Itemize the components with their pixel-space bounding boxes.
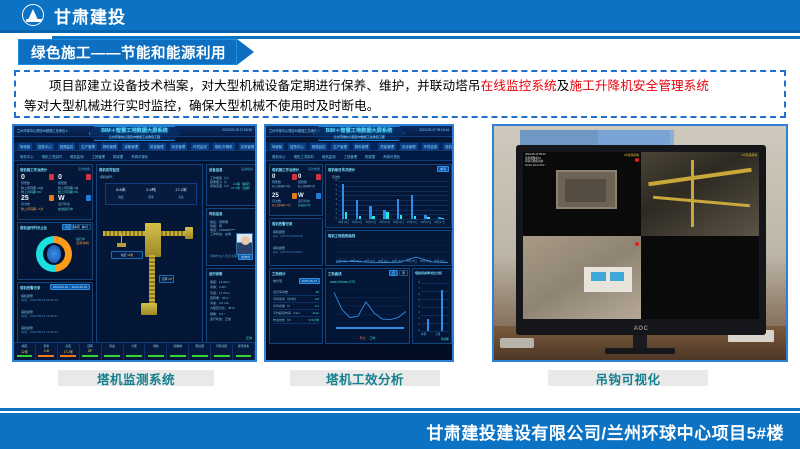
x-tick-label: 05月11日 [352,220,363,224]
dash1-stat-3-value: W [58,195,73,202]
dash1-nav-primary: 驾驶舱 智慧中心 视频监控 生产管理 物料管理 设备管理 质量管理 安全管理 环… [14,142,255,151]
dash1-donut-legend-1: 空闲/停机 [76,241,89,245]
status-cell-6-label: 倾角 [153,344,159,348]
dash1-device-label: 塔机编号： [100,175,115,179]
table-cell-value: 6.5小时 [309,318,319,322]
dash1-log-item-1-desc: 时间：2023-05-15 14:08:37 [21,314,58,318]
x-tick-label: 05月12日 [366,220,377,224]
dash2-flag-icon-4 [316,193,321,199]
dash1-log-card: 塔机告警记录 2023-05-01 ~ 2023-05-16 塔机报警 时间：2… [17,282,93,344]
dash2-nav-1[interactable]: 智慧中心 [288,143,306,150]
status-cell-2: 高度17.2米 [58,343,80,360]
dash1-nav-r0[interactable]: 质量管理 [148,143,166,150]
cam1-inner-pit [565,179,605,202]
dash1-crane-title: 塔机实时监控 [99,167,119,172]
bar-1-0 [345,212,348,219]
cam3-blue-tarp-2 [610,272,624,280]
section-title-banner: 绿色施工——节能和能源利用 [18,39,254,65]
dash2-nav-0[interactable]: 驾驶舱 [270,143,284,150]
dash1-log-item-0-desc: 时间：2023-05-16 09:22:10 [21,298,58,302]
section-title-text: 绿色施工——节能和能源利用 [18,39,237,65]
crane-cab [145,223,161,257]
dash2-util-title: 塔机利用率对比分析 [415,271,442,275]
dash2-stat-0: 0 预警数 较上周同期 +0台 [272,174,291,188]
status-cell-9-label: 司机识别 [216,344,227,348]
dash2-log-card: 塔机告警记录 塔机报警 时间：2023-05-16 09:22:10 塔机报警 … [269,218,323,266]
table-cell-value: 4min [312,311,319,315]
dash1-devinfo-values: 2.4吨（额定） 17.2米（当前） [231,182,252,190]
dash2-eff-title: 工效曲线 [328,271,342,276]
y-tick-label: 4 [336,198,337,201]
dash2-nav-4[interactable]: 物料管理 [353,143,371,150]
dash1-log-item-0[interactable]: 塔机报警 时间：2023-05-16 09:22:10 [21,294,58,302]
table-cell-key: 作业时长（h） [273,318,293,322]
dash2-stats-title: 塔机施工作业统计 [272,167,299,172]
x-tick-label: 05月11日 [350,259,361,263]
dash2-stat-0-sub: 较上周同期 +0台 [272,184,291,188]
table-cell-value: 25 [316,290,319,294]
dash1-stat-1-value: 0 [58,174,79,181]
desk-object-left [500,338,534,348]
dash2-nav-3[interactable]: 生产管理 [331,143,349,150]
y-tick-label: 7 [336,184,337,187]
dash2-subnav-1[interactable]: 塔机工况实时 [292,153,316,160]
bar-1-7 [441,218,444,219]
dash1-stat-2-sub: 较上周同期 +7次 [21,207,43,211]
panel-strip: 兰州环球中心项目5#楼施工总承包 ▾ 2023-05-16 17:25:36 B… [0,124,800,368]
y-tick-label: 3 [419,311,420,314]
cam3-record-icon [635,242,639,246]
footer-text: 甘肃建投建设有限公司/兰州环球中心项目5#楼 [426,419,784,444]
dash2-stats-card: 塔机施工作业统计 实时数据 0 预警数 较上周同期 +0台 0 报警数 较上周同… [269,164,323,216]
dash1-project-selector[interactable]: 兰州环球中心项目5#楼施工总承包 ▾ [17,128,68,133]
wall-banner-2 [598,130,674,146]
y-tick-label: 4 [419,305,420,308]
screenshot-hook-visualization: 2023-05-16 09:24塔吊摄像机01吊钩可视化系统10.5m 34.2… [492,124,788,362]
dash2-log-item-1[interactable]: 塔机报警 时间：2023-05-15 14:08:37 [273,246,302,254]
status-cell-10: 通讯状态 [233,343,255,360]
dash1-params-status: 正常 [246,336,252,340]
cam2-beam-3 [691,160,694,227]
status-cell-0-value: 12米 [21,349,28,354]
dash1-donut-core [47,245,61,263]
dash1-metric-2-label: 高度 [166,195,196,199]
stat-flag-icon-4 [86,195,91,201]
status-cell-3: 回转25° [80,343,102,360]
dash2-nav-r2[interactable]: 环境监测 [422,143,440,150]
dash2-bar-pill[interactable]: 本月 [437,166,449,172]
status-cell-0-label: 幅度 [22,344,28,348]
dash1-nav-r1[interactable]: 安全管理 [170,143,188,150]
dash2-efficiency-card: 工效曲线 日 周 max=0/max=270 吊次 工时 [325,268,410,344]
dash1-driver-status-badge: 在岗中 [238,254,253,260]
chevron-right-icon [237,39,254,65]
dash2-subnav-5[interactable]: 吊钩可视化 [381,153,402,160]
dash1-stat-1-sub2: 较上月同期 0% [58,190,79,194]
dash1-nav-4[interactable]: 物料管理 [101,143,119,150]
y-tick-label: 8 [419,281,420,284]
table-cell-value: 3.6 [315,297,319,301]
crane-tag-3-value: 25° [168,277,172,281]
y-tick-label: 8 [336,179,337,182]
description-line-1: 项目部建立设备技术档案，对大型机械设备定期进行保养、维护，并联动塔吊在线监控系统… [24,77,776,97]
dash2-util-plot [421,283,449,331]
dash2-trend-title: 塔机工效趋势曲线 [328,233,355,238]
dash1-stats-card: 塔机施工作业统计 实时数据 0 预警数 较上周同期 +0台 较上月同期 0% 0 [17,164,93,220]
y-tick-label: 0 [419,329,420,332]
crane-counterweight [185,227,193,239]
y-tick-label: 2 [336,208,337,211]
dash1-params-title: 运行参数 [209,271,223,276]
caption-panel-3: 吊钩可视化 [548,370,708,386]
avatar [236,233,253,255]
table-row: 平均起吊时间（min）4min [273,310,319,317]
table-cell-key: 平均吊次（次/时） [273,297,298,301]
status-cell-8: 限位器 [189,343,211,360]
dash1-stat-1: 0 报警数 较上周同期 0台 较上月同期 0% [58,174,79,194]
dash1-stat-0-value: 0 [21,174,43,181]
bar-1-6 [427,217,430,219]
footer-bar: 甘肃建投建设有限公司/兰州环球中心项目5#楼 [0,413,800,449]
x-tick-label: 05月16日 [420,259,431,263]
dash1-stats-right[interactable]: 实时数据 [78,167,90,171]
dash2-bar-chart-card: 塔机每日吊次统计 本月 吊次数 012345678 05月10日05月11日05… [325,164,452,228]
x-tick-label: 05月15日 [407,220,418,224]
dash1-stat-0-label: 预警数 [21,181,43,185]
status-cell-7-label: 防碰撞 [174,344,182,348]
dash2-utilization-card: 塔机利用率对比分析 012345678 本期上期 利用率 [412,268,452,344]
dash1-stat-3: W 运行状态 在线运行中 [58,195,73,211]
dash1-stats-title: 塔机施工作业统计 [20,167,47,172]
table-cell-value: 2.1 [315,304,319,308]
x-tick-label: 05月14日 [393,220,404,224]
dash2-title: BIM＋智慧工地数据大屏系统 兰州环球中心项目5#楼施工总承包工程 [326,127,393,139]
crane-tag-0-label: 幅度 [121,253,127,257]
dash1-devinfo-title: 设备信息 [209,167,223,172]
dash1-nav-3[interactable]: 生产管理 [79,143,97,150]
status-cell-4: 风速 [102,343,124,360]
dash1-nav-secondary: 塔机中心 塔机工况实时 塔机监测 工效管理 防碰撞 吊钩可视化 [14,152,255,161]
description-box: 项目部建立设备技术档案，对大型机械设备定期进行保养、维护，并联动塔吊在线监控系统… [14,70,786,118]
desc-highlight-2: 施工升降机安全管理系统 [569,79,709,93]
y-tick-label: 3 [336,203,337,206]
dash1-title-text: BIM＋智慧工地数据大屏系统 [101,128,168,134]
table-row: 当日吊次数25 [273,289,319,296]
dash2-eff-scrollbar[interactable] [336,327,404,329]
dash1-stat-3-sub: 在线运行中 [58,207,73,211]
cam1-label: 1号塔吊吊钩 [623,153,639,157]
dash2-util-yticks: 012345678 [413,283,421,331]
cam2-label: 2号塔吊吊钩 [741,153,757,157]
camera-feed-3 [523,236,641,320]
dash1-log-title: 塔机告警记录 [20,285,40,290]
camera-feed-4-empty [641,236,759,320]
dash1-devinfo-row-2: 吊钩高度（m） [210,184,231,188]
status-cell-6: 倾角 [145,343,167,360]
dash2-nav-2[interactable]: 视频监控 [310,143,328,150]
dash1-log-item-1[interactable]: 塔机报警 时间：2023-05-15 14:08:37 [21,310,58,318]
x-tick-label: 本期 [421,332,426,336]
dash2-table-rows: 当日吊次数25平均吊次（次/时）3.6平均吊重（t）2.1平均起吊时间（min）… [273,289,319,324]
slide-root: 甘肃建投 绿色施工——节能和能源利用 项目部建立设备技术档案，对大型机械设备定期… [0,0,800,449]
dash2-flag-icon-2 [316,174,321,180]
dash1-log-item-2-desc: 时间：2023-05-14 10:51:03 [21,330,58,334]
dash2-subnav-2[interactable]: 塔机监测 [320,153,338,160]
table-cell-key: 平均起吊时间（min） [273,311,302,315]
dash1-param-5: 力矩百分比：48 % [210,306,235,311]
dash1-param-7: 运行状态：正常 [210,317,235,322]
dash2-eff-footer-legend: 吊次 工时 [359,336,375,340]
dash2-nav-secondary: 塔机中心 塔机工况实时 塔机监测 工效管理 防碰撞 吊钩可视化 [266,152,452,161]
dash2-log-item-1-desc: 时间：2023-05-15 14:08:37 [273,250,302,254]
bar-0-1 [441,290,444,331]
table-cell-key: 平均吊重（t） [273,304,292,308]
dash2-stat-2-sub: 较上周同期 +7次 [272,203,291,207]
cam2-beam-2 [653,196,750,207]
y-tick-label: 5 [419,299,420,302]
dash1-nav-5[interactable]: 设备管理 [122,143,140,150]
dash2-project-selector[interactable]: 兰州环球中心项目5#楼施工总承包 ▾ [269,128,320,133]
dash1-nav-1[interactable]: 智慧中心 [36,143,54,150]
dash1-stat-1-label: 报警数 [58,181,79,185]
dash1-metric-2-value: 17.2米 [166,187,196,193]
dash2-util-legend: 利用率 [441,337,449,341]
dash1-subnav-5[interactable]: 吊钩可视化 [129,153,150,160]
bar-1-4 [400,215,403,219]
dash2-subnav-0[interactable]: 塔机中心 [270,153,288,160]
dash2-flag-icon-1 [292,174,297,180]
brand-name: 甘肃建投 [54,3,126,28]
crane-hook [117,243,126,247]
dash2-clock: 2023-05-17 09:10:44 [419,128,449,132]
dash2-stat-1: 0 报警数 较上周同期 0台 [298,174,315,188]
dash1-donut-legend: 运行中 空闲/停机 [76,237,89,245]
dash1-subnav-1[interactable]: 塔机工况实时 [40,153,64,160]
table-cell-key: 当日吊次数 [273,290,288,294]
camera-feed-2: 2号塔吊吊钩 [641,152,759,236]
dash1-metric-0-label: 幅度 [106,195,136,199]
caption-panel-2: 塔机工效分析 [290,370,440,386]
status-cell-2-label: 高度 [65,344,71,348]
x-tick-label: 05月17日 [434,220,445,224]
bar-1-2 [372,216,375,219]
dash2-subtitle: 兰州环球中心项目5#楼施工总承包工程 [326,135,393,139]
dash1-crane-3d-model: 幅度 12米 回转 25° [97,209,204,329]
dash1-stat-2: 25 吊次数 较上周同期 +7次 [21,195,43,211]
dash1-log-item-2[interactable]: 塔机报警 时间：2023-05-14 10:51:03 [21,326,58,334]
x-tick-label: 05月17日 [434,259,445,263]
status-cell-3-value: 25° [88,349,93,353]
dash2-bar-chart-plot [338,181,448,219]
aoc-brand-logo: AOC [634,326,649,332]
dash2-bar-yticks: 012345678 [326,181,338,219]
dash1-nav-2[interactable]: 视频监控 [58,143,76,150]
dash2-eff-pill-1[interactable]: 周 [399,270,408,276]
dash1-driver-rows: 姓名：张师傅 性别：男 电话：1390000**** 工作状态：在岗 [210,220,235,236]
crane-tag-3-label: 回转 [162,277,168,281]
dash2-table-card: 工效统计 2023-05-17 统计项 当日吊次数25平均吊次（次/时）3.6平… [269,268,323,344]
dash1-nav-r2[interactable]: 环境监测 [191,143,209,150]
y-tick-label: 6 [419,293,420,296]
dash2-stats-right[interactable]: 实时数据 [308,167,320,171]
dash2-eff-legend-1: 工时 [370,336,376,340]
dash2-table-date[interactable]: 2023-05-17 [299,278,320,284]
dash1-devinfo-val-2: 17.2米（当前） [231,186,252,190]
dash1-devinfo-link[interactable]: 设备档案 [241,167,253,171]
dash1-devinfo-rows: 工作幅度（m） 起重能力（t） 吊钩高度（m） [210,176,231,188]
cam1-record-icon [635,158,639,162]
y-tick-label: 7 [419,287,420,290]
stat-flag-icon-2 [86,174,91,180]
x-tick-label: 05月10日 [336,259,347,263]
dash1-donut-pill-2[interactable]: 本月 [79,224,91,230]
dash2-table-key-label: 统计项 [273,279,282,283]
dash2-nav-primary: 驾驶舱 智慧中心 视频监控 生产管理 物料管理 质量管理 安全管理 环境监测 塔… [266,142,452,151]
dash2-subnav-3[interactable]: 工效管理 [341,153,359,160]
dash1-subnav-4[interactable]: 防碰撞 [111,153,125,160]
y-tick-label: 0 [336,217,337,220]
cam2-beam-1 [648,168,751,186]
dash1-nav-r3[interactable]: 塔机/升降机 [213,143,235,150]
table-row: 作业时长（h）6.5小时 [273,317,319,324]
dash1-subtitle: 兰州环球中心项目5#楼施工总承包工程 [101,135,168,139]
dash1-donut-title: 塔机运行时长占比 [20,225,47,230]
dash1-metric-1: 2.4吨 吊重 [136,184,166,204]
dash2-trend-xticks: 05月10日05月11日05月12日05月13日05月14日05月15日05月1… [336,259,448,264]
x-tick-label: 上期 [435,332,440,336]
dash2-log-title: 塔机告警记录 [272,221,292,226]
dash1-driver-title: 司机信息 [209,211,223,216]
dash2-table-title: 工效统计 [272,271,286,276]
dash2-log-item-0-desc: 时间：2023-05-16 09:22:10 [273,234,302,238]
dash1-stat-2-label: 吊次数 [21,202,43,206]
dash2-log-item-0[interactable]: 塔机报警 时间：2023-05-16 09:22:10 [273,230,302,238]
mountain-gate-logo-icon [22,4,44,26]
dash1-status-bar: 幅度12米 吊重2.4t 高度17.2米 回转25° 风速 力矩 倾角 防碰撞 … [14,342,255,360]
crane-tag-group-1: 幅度 12米 [111,251,143,259]
dash1-stat-0-sub2: 较上月同期 0% [21,190,43,194]
table-row: 平均吊重（t）2.1 [273,303,319,310]
status-cell-5-label: 力矩 [131,344,137,348]
dash1-params-card: 运行参数 幅度：12.00 m 吊重：2.40 t 高度：17.20 m 回转角… [206,268,256,344]
screenshot-tower-crane-efficiency: 兰州环球中心项目5#楼施工总承包 ▾ 2023-05-17 09:10:44 B… [264,124,454,362]
bar-1-1 [359,216,362,219]
dash1-metric-1-value: 2.4吨 [136,187,166,193]
dash1-subnav-2[interactable]: 塔机监测 [68,153,86,160]
dash2-nav-r0[interactable]: 质量管理 [378,143,396,150]
dash1-params-rows: 幅度：12.00 m 吊重：2.40 t 高度：17.20 m 回转角：25.0… [210,280,235,322]
dash2-stat-3: W 运行状态 在线运行中 [298,193,311,207]
dash1-driver-row-3: 工作状态：在岗 [210,232,235,236]
x-tick-label: 05月13日 [379,220,390,224]
crane-base [141,303,157,315]
dash1-device-info-card: 设备信息 设备档案 工作幅度（m） 起重能力（t） 吊钩高度（m） 2.4吨（额… [206,164,256,206]
office-room-photo: 2023-05-16 09:24塔吊摄像机01吊钩可视化系统10.5m 34.2… [494,126,786,360]
dash1-metric-1-label: 吊重 [136,195,166,199]
dash2-nav-r3[interactable]: 塔机/升降机 [443,143,454,150]
x-tick-label: 05月13日 [378,259,389,263]
cam3-blue-tarp-1 [591,272,605,280]
status-cell-7: 防碰撞 [167,343,189,360]
dash2-flag-icon-3 [292,193,297,199]
dash1-driver-card: 司机信息 姓名：张师傅 性别：男 电话：1390000**** 工作状态：在岗 … [206,208,256,266]
dash2-bar-xticks: 05月10日05月11日05月12日05月13日05月14日05月15日05月1… [338,220,448,226]
dash1-stat-3-label: 运行状态 [58,202,73,206]
screenshot-tower-crane-monitoring: 兰州环球中心项目5#楼施工总承包 ▾ 2023-05-16 17:25:36 B… [12,124,257,362]
status-cell-1: 吊重2.4t [36,343,58,360]
dash1-stat-0: 0 预警数 较上周同期 +0台 较上月同期 0% [21,174,43,194]
crane-tag-0-value: 12米 [127,253,133,257]
dash1-subnav-3[interactable]: 工效管理 [89,153,107,160]
dash2-nav-r1[interactable]: 安全管理 [400,143,418,150]
bar-0-0 [427,319,430,331]
status-cell-2-value: 17.2米 [64,349,73,354]
dash1-crane-view-card: 塔机实时监控 塔机编号： 8.5米 幅度 2.4吨 吊重 17.2 [96,164,203,344]
status-cell-4-label: 风速 [109,344,115,348]
monitor-stand-base [605,348,675,354]
dash1-metric-strip: 8.5米 幅度 2.4吨 吊重 17.2米 高度 [105,183,197,205]
dash2-stat-3-sub: 在线运行中 [298,203,311,207]
y-tick-label: 6 [336,189,337,192]
dash1-metric-0: 8.5米 幅度 [106,184,136,204]
dash1-donut-chart [36,236,72,272]
status-cell-3-label: 回转 [87,344,93,348]
crane-tag-group-2: 回转 25° [159,275,174,283]
dash2-bar-gridlines [338,181,448,219]
desc-text-a: 项目部建立设备技术档案，对大型机械设备定期进行保养、维护，并联动塔吊 [49,79,481,93]
status-cell-5: 力矩 [124,343,146,360]
y-tick-label: 5 [336,193,337,196]
camera-feed-1: 2023-05-16 09:24塔吊摄像机01吊钩可视化系统10.5m 34.2… [523,152,641,236]
desc-highlight-1: 在线监控系统 [481,79,557,93]
dash2-eff-legend: max=0/max=270 [330,280,355,284]
table-row: 平均吊次（次/时）3.6 [273,296,319,303]
aoc-monitor: 2023-05-16 09:24塔吊摄像机01吊钩可视化系统10.5m 34.2… [516,145,766,335]
dash1-nav-0[interactable]: 驾驶舱 [18,143,32,150]
dash1-clock: 2023-05-16 17:25:36 [222,128,252,132]
y-tick-label: 1 [336,212,337,215]
crane-jib-left [103,231,151,236]
dash1-stat-2-value: 25 [21,195,43,202]
dash1-title: BIM＋智慧工地数据大屏系统 兰州环球中心项目5#楼施工总承包工程 [101,127,168,139]
x-tick-label: 05月15日 [406,259,417,263]
dash1-subnav-0[interactable]: 塔机中心 [18,153,36,160]
caption-panel-1: 塔机监测系统 [58,370,214,386]
dash1-nav-r4[interactable]: 劳务管理 [239,143,257,150]
dash2-stat-1-sub: 较上周同期 0台 [298,184,315,188]
x-tick-label: 05月12日 [364,259,375,263]
dash1-donut-card: 塔机运行时长占比 今日 本周 本月 运行中 空闲/停机 [17,222,93,280]
dash2-bar-title: 塔机每日吊次统计 [328,167,355,172]
bar-1-5 [414,216,417,219]
status-cell-9: 司机识别 [211,343,233,360]
dash2-util-gridlines [421,283,449,331]
status-cell-0: 幅度12米 [14,343,36,360]
dash2-title-text: BIM＋智慧工地数据大屏系统 [326,128,393,134]
monitor-screen: 2023-05-16 09:24塔吊摄像机01吊钩可视化系统10.5m 34.2… [523,152,759,319]
dash2-subnav-4[interactable]: 防碰撞 [363,153,377,160]
dash2-stat-2: 25 吊次数 较上周同期 +7次 [272,193,291,207]
brand-bar: 甘肃建投 [0,0,800,30]
x-tick-label: 05月16日 [421,220,432,224]
dash2-eff-pill-0[interactable]: 日 [389,270,398,276]
dash2-eff-legend-0: 吊次 [359,336,365,340]
dash1-log-date[interactable]: 2023-05-01 ~ 2023-05-16 [50,284,90,290]
status-cell-1-value: 2.4t [44,349,49,353]
y-tick-label: 1 [419,323,420,326]
bar-1-3 [386,212,389,219]
dash2-eff-plot [334,289,406,323]
